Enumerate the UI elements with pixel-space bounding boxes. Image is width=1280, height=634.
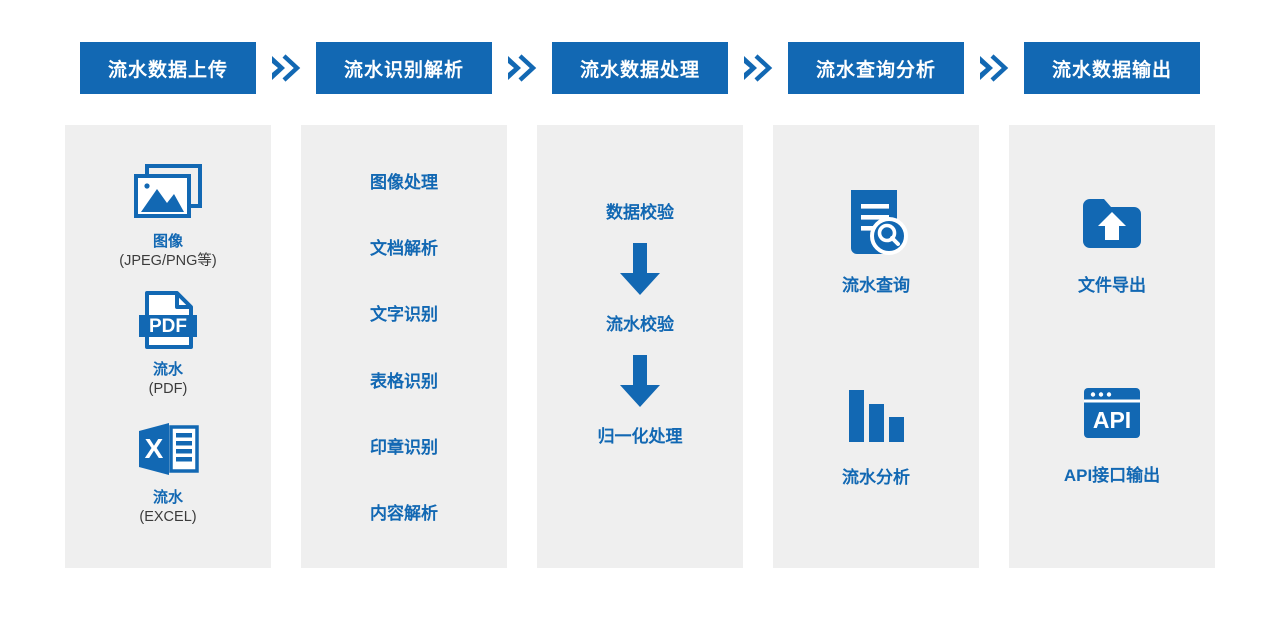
svg-text:API: API [1093, 407, 1131, 433]
bar-chart-icon [843, 379, 909, 451]
panel-processing: 数据校验 流水校验 归一化处理 [537, 125, 743, 568]
double-chevron-right-icon [964, 42, 1024, 94]
recognition-item[interactable]: 印章识别 [370, 436, 438, 502]
item-label: 流水分析 [842, 467, 910, 489]
svg-text:PDF: PDF [149, 316, 187, 337]
upload-item-image[interactable]: 图像 (JPEG/PNG等) [119, 161, 216, 271]
document-search-icon [841, 187, 911, 259]
panel-upload: 图像 (JPEG/PNG等) PDF 流水 (PDF) [65, 125, 271, 568]
arrow-down-icon [618, 243, 662, 295]
folder-upload-icon [1078, 187, 1146, 259]
image-stack-icon [133, 161, 203, 223]
recognition-item[interactable]: 表格识别 [370, 370, 438, 436]
query-item-analysis[interactable]: 流水分析 [842, 379, 910, 489]
arrow-down-icon [618, 355, 662, 407]
double-chevron-right-icon [256, 42, 316, 94]
item-label: 流水查询 [842, 275, 910, 297]
recognition-item[interactable]: 文档解析 [370, 237, 438, 303]
excel-file-icon: X [135, 417, 201, 479]
item-label: 文件导出 [1078, 275, 1146, 297]
recognition-item[interactable]: 内容解析 [370, 502, 438, 568]
stage-header-3[interactable]: 流水数据处理 [552, 42, 728, 94]
svg-text:X: X [145, 433, 164, 464]
query-item-search[interactable]: 流水查询 [841, 187, 911, 297]
recognition-item[interactable]: 文字识别 [370, 303, 438, 369]
upload-item-excel[interactable]: X 流水 (EXCEL) [135, 417, 201, 527]
panel-output: 文件导出 API API接口输出 [1009, 125, 1215, 568]
upload-item-pdf[interactable]: PDF 流水 (PDF) [137, 289, 199, 399]
item-sublabel: (PDF) [149, 379, 188, 399]
item-sublabel: (EXCEL) [139, 507, 196, 527]
item-label: 图像 [153, 232, 183, 251]
output-item-api[interactable]: API API接口输出 [1064, 377, 1160, 487]
processing-step[interactable]: 流水校验 [606, 313, 674, 337]
panel-recognition: 图像处理 文档解析 文字识别 表格识别 印章识别 内容解析 [301, 125, 507, 568]
pdf-file-icon: PDF [137, 289, 199, 351]
item-label: API接口输出 [1064, 465, 1160, 487]
recognition-item[interactable]: 图像处理 [370, 171, 438, 237]
double-chevron-right-icon [728, 42, 788, 94]
output-item-file-export[interactable]: 文件导出 [1078, 187, 1146, 297]
panel-query-analysis: 流水查询 流水分析 [773, 125, 979, 568]
flow-diagram: 流水数据上传 流水识别解析 流水数据处理 流水查询分析 [0, 0, 1280, 634]
stage-header-4[interactable]: 流水查询分析 [788, 42, 964, 94]
stage-panels: 图像 (JPEG/PNG等) PDF 流水 (PDF) [65, 125, 1215, 568]
stage-header-2[interactable]: 流水识别解析 [316, 42, 492, 94]
stage-header-row: 流水数据上传 流水识别解析 流水数据处理 流水查询分析 [80, 42, 1200, 94]
item-sublabel: (JPEG/PNG等) [119, 251, 216, 271]
double-chevron-right-icon [492, 42, 552, 94]
item-label: 流水 [153, 360, 183, 379]
item-label: 流水 [153, 488, 183, 507]
stage-header-1[interactable]: 流水数据上传 [80, 42, 256, 94]
processing-step[interactable]: 归一化处理 [598, 425, 683, 449]
stage-header-5[interactable]: 流水数据输出 [1024, 42, 1200, 94]
processing-step[interactable]: 数据校验 [606, 201, 674, 225]
api-window-icon: API [1078, 377, 1146, 449]
